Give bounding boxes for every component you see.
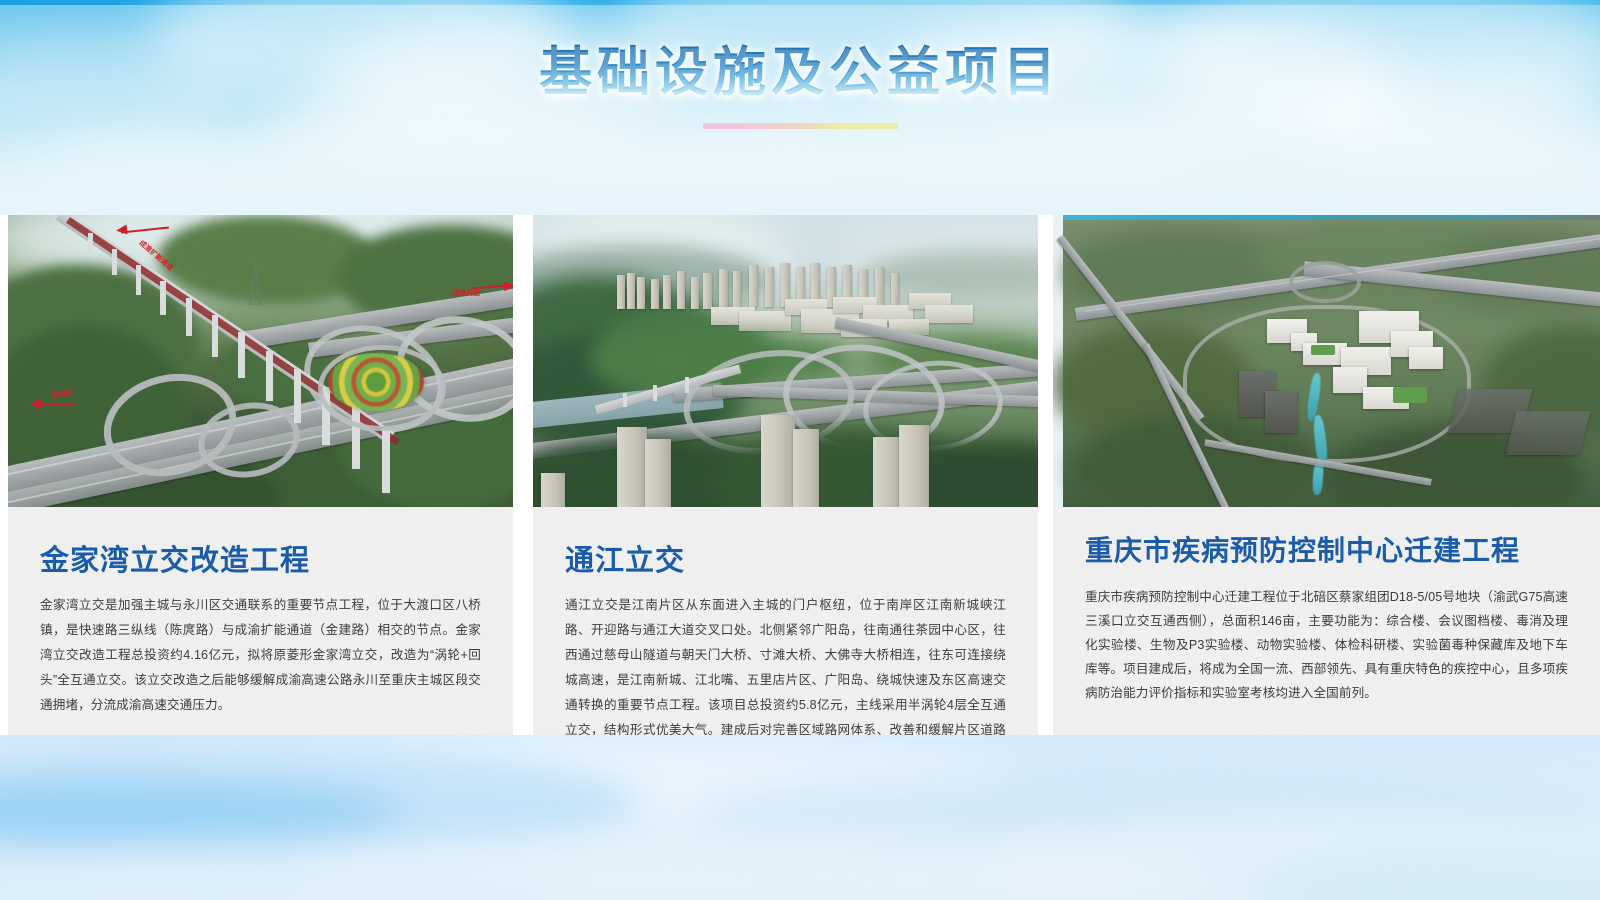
project-body-3: 重庆市疾病预防控制中心迁建工程 重庆市疾病预防控制中心迁建工程位于北碚区蔡家组团… <box>1053 531 1600 705</box>
page-title-container: 基础设施及公益项目 <box>0 44 1600 102</box>
page-title: 基础设施及公益项目 <box>533 44 1067 102</box>
project-card-2[interactable]: 通江立交 通江立交是江南片区从东面进入主城的门户枢纽，位于南岸区江南新城峡江路、… <box>533 215 1038 735</box>
projects-strip: 成渝扩能通道 成渝高速 陈庹路 金家湾立交改造工程 金家湾立交是加强主城与永川区… <box>0 215 1600 735</box>
photo-top-accent <box>1053 215 1600 220</box>
project-photo-2 <box>533 215 1038 507</box>
project-text-2: 通江立交是江南片区从东面进入主城的门户枢纽，位于南岸区江南新城峡江路、开迎路与通… <box>565 593 1006 735</box>
footer-wave-band <box>0 735 1600 900</box>
project-text-1: 金家湾立交是加强主城与永川区交通联系的重要节点工程，位于大渡口区八桥镇，是快速路… <box>40 593 481 718</box>
project-text-3: 重庆市疾病预防控制中心迁建工程位于北碚区蔡家组团D18-5/05号地块（渝武G7… <box>1085 585 1568 705</box>
project-title-3: 重庆市疾病预防控制中心迁建工程 <box>1085 531 1568 571</box>
project-card-1[interactable]: 成渝扩能通道 成渝高速 陈庹路 金家湾立交改造工程 金家湾立交是加强主城与永川区… <box>8 215 513 735</box>
project-photo-1: 成渝扩能通道 成渝高速 陈庹路 <box>8 215 513 507</box>
header-sky-banner <box>0 0 1600 215</box>
header-bottom-fade <box>0 125 1600 215</box>
poster-page: 基础设施及公益项目 <box>0 0 1600 900</box>
title-underline-bar <box>703 123 898 129</box>
project-body-1: 金家湾立交改造工程 金家湾立交是加强主城与永川区交通联系的重要节点工程，位于大渡… <box>8 541 513 718</box>
project-body-2: 通江立交 通江立交是江南片区从东面进入主城的门户枢纽，位于南岸区江南新城峡江路、… <box>533 541 1038 735</box>
project-title-1: 金家湾立交改造工程 <box>40 541 481 579</box>
project-photo-3 <box>1053 215 1600 507</box>
transmission-tower-icon <box>248 263 262 305</box>
project-card-3[interactable]: 重庆市疾病预防控制中心迁建工程 重庆市疾病预防控制中心迁建工程位于北碚区蔡家组团… <box>1053 215 1600 735</box>
project-title-2: 通江立交 <box>565 541 1006 579</box>
photo-label-2: 成渝高速 <box>452 288 480 298</box>
